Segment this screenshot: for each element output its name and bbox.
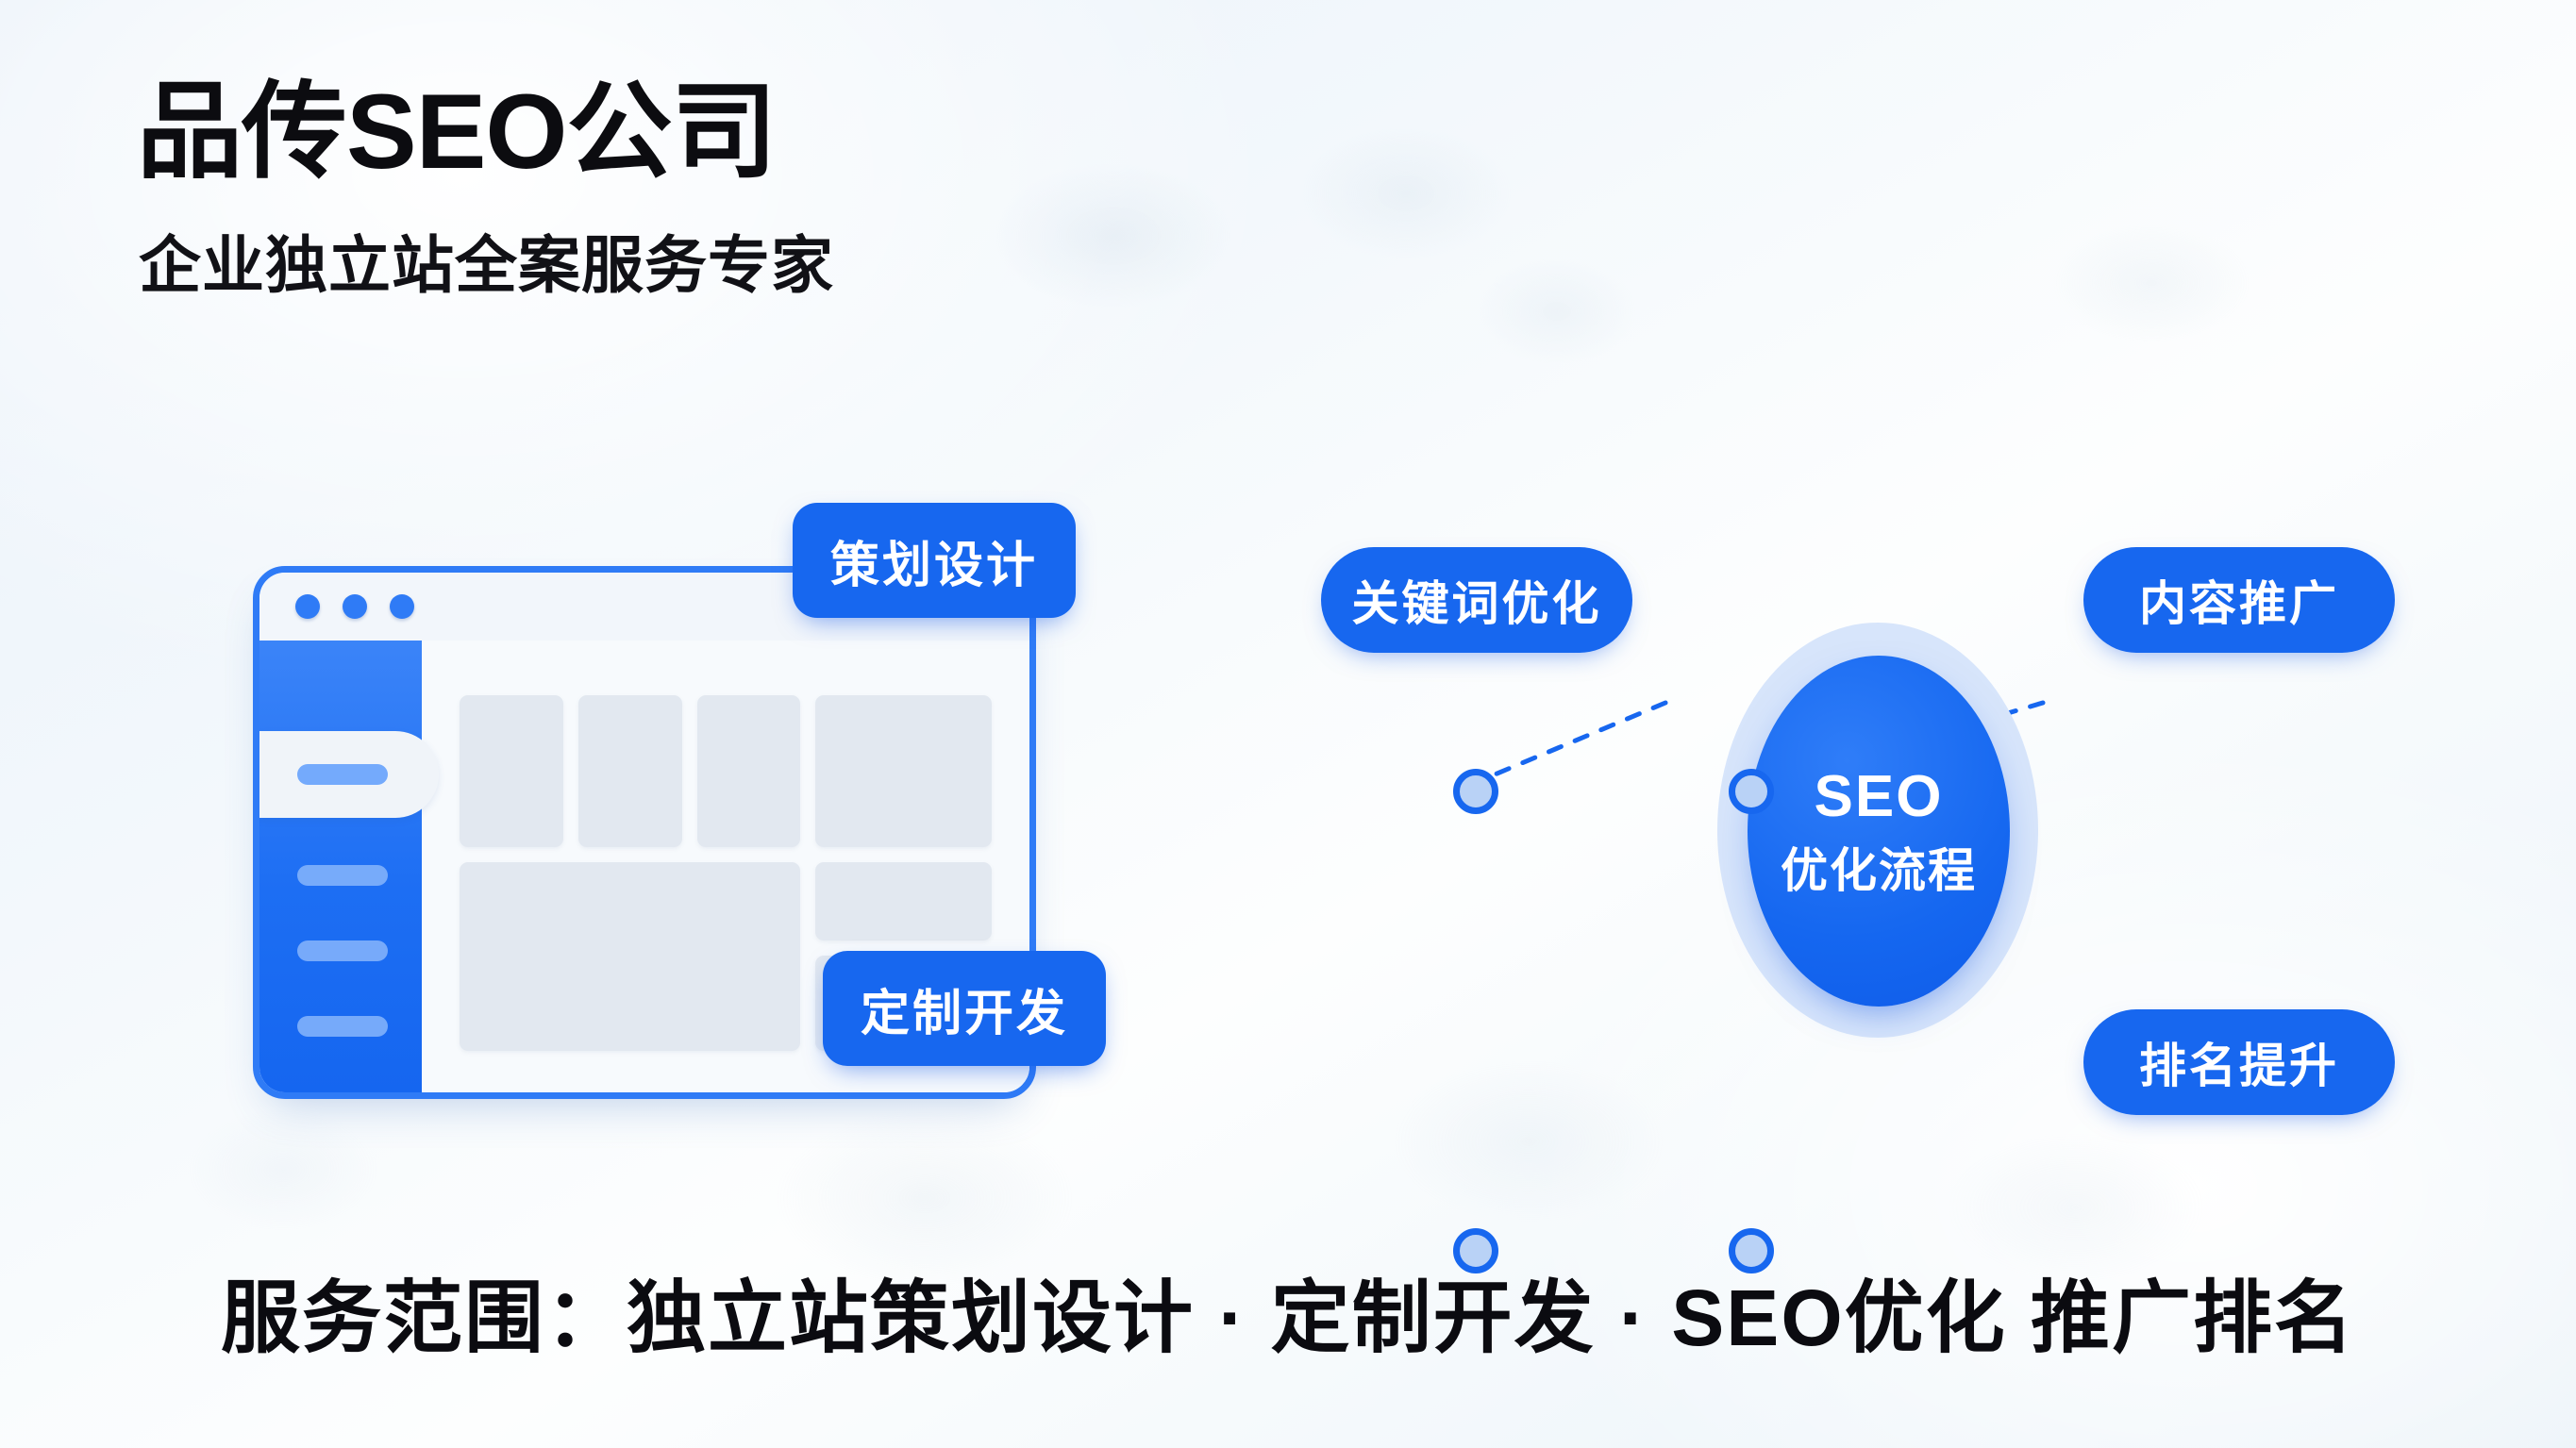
sidebar-nav-item-2 — [297, 940, 388, 961]
window-dot-minimize-icon — [343, 594, 367, 619]
content-block — [460, 695, 563, 847]
badge-custom-dev: 定制开发 — [823, 951, 1106, 1066]
content-block — [697, 695, 801, 847]
content-block — [815, 862, 992, 940]
seo-core-title: SEO — [1815, 768, 1944, 826]
sidebar-nav-item-3 — [297, 1016, 388, 1037]
sidebar-nav-item-active — [259, 731, 439, 818]
content-block — [815, 695, 992, 847]
browser-sidebar — [259, 641, 422, 1092]
sidebar-nav-item-active-bar — [297, 764, 388, 785]
seo-node-top-right — [1729, 769, 1774, 814]
page-title: 品传SEO公司 — [137, 74, 777, 190]
seo-label-content-promotion: 内容推广 — [2083, 547, 2395, 653]
seo-node-top-left — [1453, 769, 1498, 814]
window-dot-maximize-icon — [390, 594, 414, 619]
connector-top-left — [1470, 703, 1665, 785]
window-dot-close-icon — [295, 594, 320, 619]
service-scope-line: 服务范围：独立站策划设计 · 定制开发 · SEO优化 推广排名 — [0, 1255, 2576, 1369]
seo-label-ranking-improvement: 排名提升 — [2083, 1009, 2395, 1115]
sidebar-nav-item-1 — [297, 865, 388, 886]
page-subtitle: 企业独立站全案服务专家 — [139, 231, 834, 300]
seo-label-keyword-optimization: 关键词优化 — [1321, 547, 1632, 653]
seo-core-circle: SEO 优化流程 — [1748, 656, 2010, 1007]
seo-core-subtitle: 优化流程 — [1781, 847, 1977, 894]
content-block — [460, 862, 800, 1051]
content-block — [578, 695, 682, 847]
badge-plan-design: 策划设计 — [793, 503, 1076, 618]
